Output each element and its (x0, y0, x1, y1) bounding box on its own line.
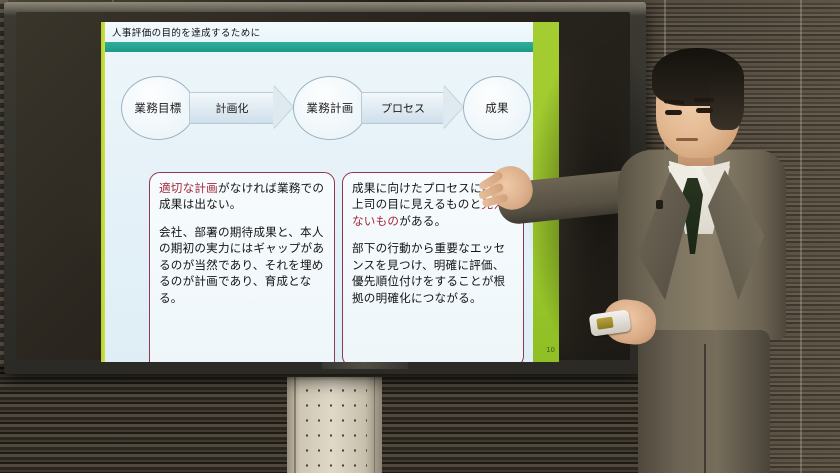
presenter-sideburn (710, 66, 744, 130)
display-brand-logo (322, 361, 408, 369)
presenter-eye (696, 108, 713, 113)
callout-left-paragraph-1: 適切な計画がなければ業務での成果は出ない。 (159, 180, 325, 213)
presenter-eyebrow (694, 98, 714, 103)
presenter-mouth (676, 138, 698, 141)
flow-node-result: 成果 (463, 76, 531, 140)
slide-title: 人事評価の目的を達成するために (112, 25, 261, 39)
callout-box-left: 適切な計画がなければ業務での成果は出ない。 会社、部署の期待成果と、本人の期初の… (149, 172, 335, 362)
presenter-legs (638, 330, 770, 473)
flow-arrow-planning: 計画化 (189, 92, 295, 122)
flow-arrow-process: プロセス (361, 92, 465, 122)
lapel-microphone-icon (656, 200, 663, 209)
callout-left-highlight: 適切な計画 (159, 181, 218, 195)
flow-node-goal: 業務目標 (121, 76, 195, 140)
flow-node-plan: 業務計画 (293, 76, 367, 140)
video-frame: 10 人事評価の目的を達成するために 業務目標 計画化 業務計画 プロセス (0, 0, 840, 473)
display-stand-column (287, 377, 382, 473)
stand-column-edge (374, 377, 376, 473)
callout-right-paragraph-2: 部下の行動から重要なエッセンスを見つけ、明確に評価、優先順位付けをすることが根拠… (352, 240, 514, 306)
stand-column-edge (294, 377, 296, 473)
arrow-head-icon (273, 85, 293, 129)
flow-arrow-planning-label: 計画化 (189, 92, 274, 124)
presenter (560, 0, 840, 473)
arrow-head-icon (443, 85, 463, 129)
slide-accent-bar (105, 42, 533, 52)
callout-right-tail: がある。 (399, 214, 446, 228)
slide-body: 業務目標 計画化 業務計画 プロセス 成果 適切な計画がなければ業務での成果は出… (105, 52, 533, 362)
callout-left-paragraph-2: 会社、部署の期待成果と、本人の期初の実力にはギャップがあるのが当然であり、それを… (159, 224, 325, 306)
process-flow-diagram: 業務目標 計画化 業務計画 プロセス 成果 (115, 76, 527, 138)
stand-column-perforation (301, 383, 367, 473)
remote-button[interactable] (596, 317, 613, 330)
presenter-eye (665, 110, 682, 115)
flow-arrow-process-label: プロセス (361, 92, 444, 124)
